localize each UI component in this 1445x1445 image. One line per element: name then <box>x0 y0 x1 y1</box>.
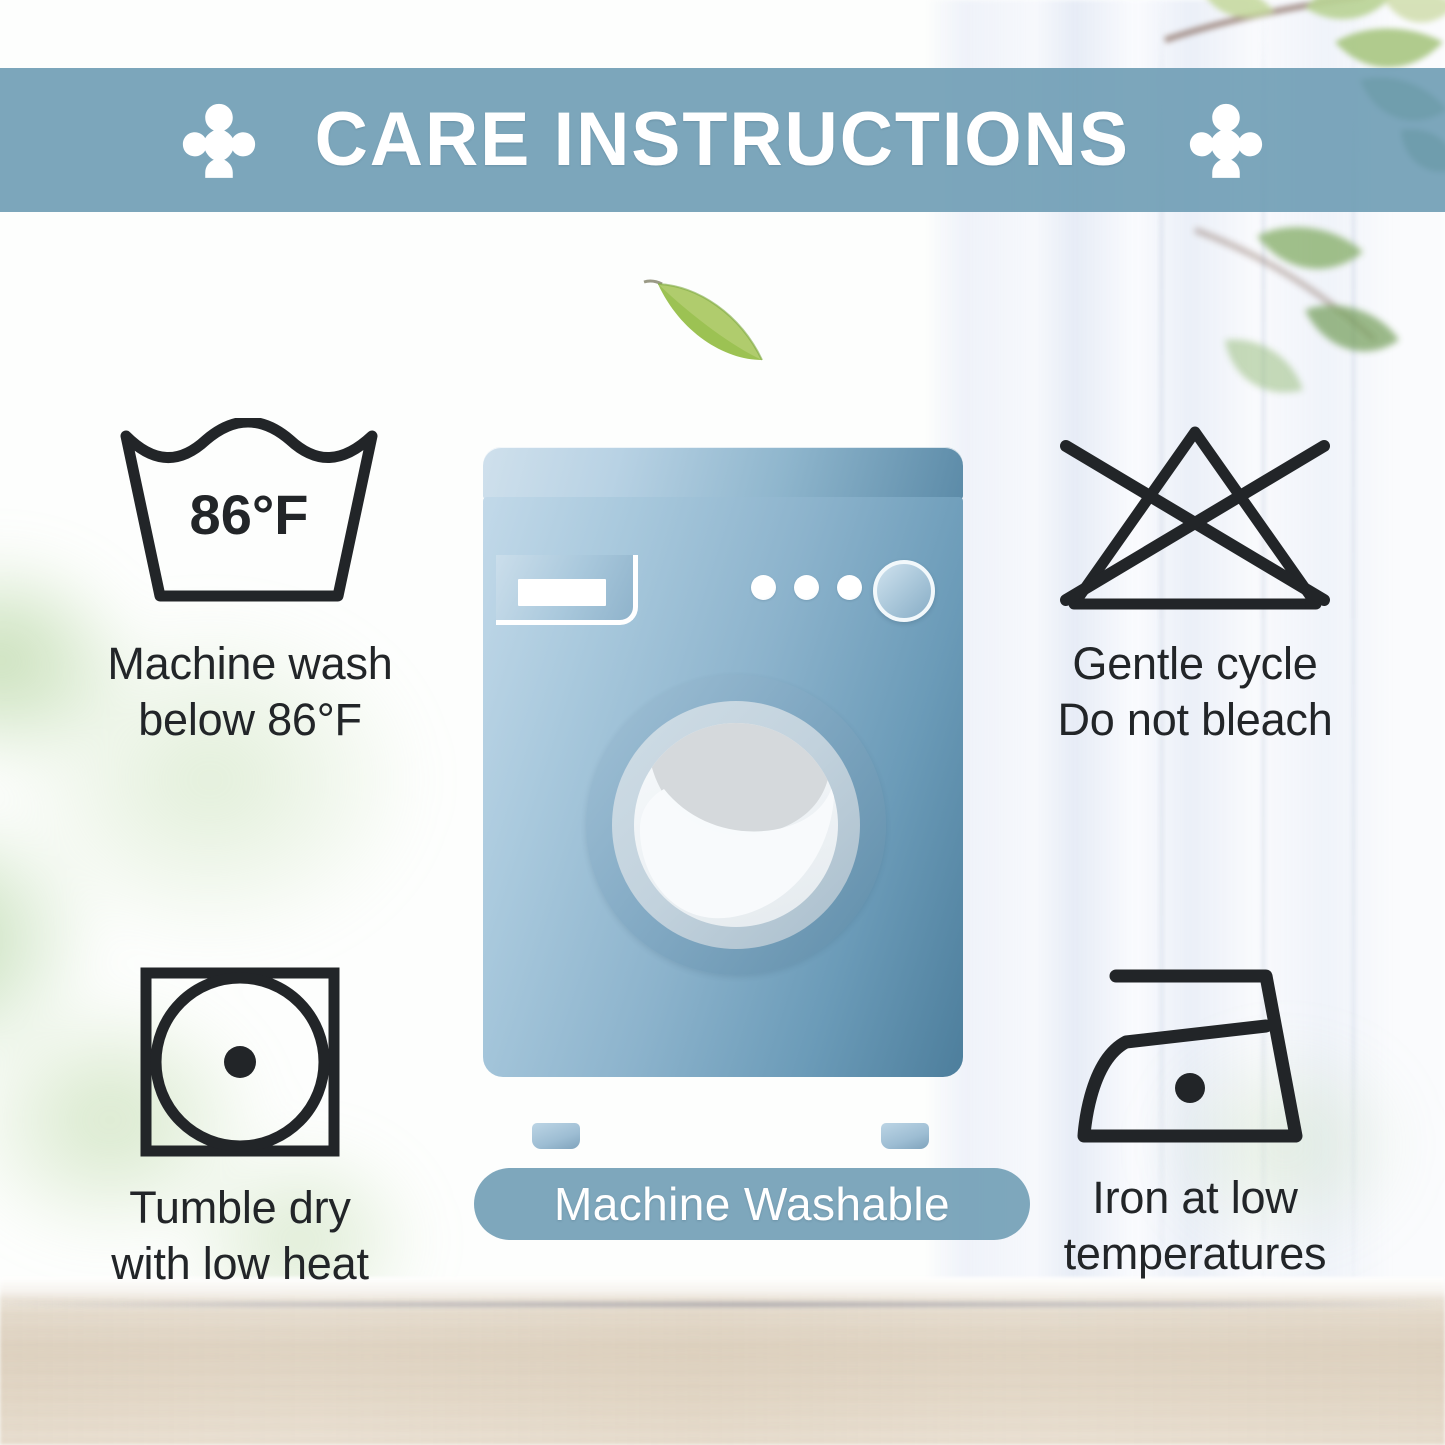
page-title: CARE INSTRUCTIONS <box>315 102 1130 178</box>
machine-drawer-slot <box>518 579 606 606</box>
background-branch-leaves-right <box>1165 190 1405 450</box>
machine-lid <box>483 447 963 499</box>
machine-door-glass <box>634 723 838 927</box>
care-symbol-iron-low: Iron at low temperatures <box>985 962 1405 1282</box>
machine-door-outer-ring <box>586 675 886 975</box>
machine-indicator-lights <box>751 575 862 600</box>
care-symbol-machine-wash: 86°F Machine wash below 86°F <box>40 418 460 748</box>
background-wood-grain <box>0 1295 1445 1445</box>
machine-foot <box>532 1123 580 1149</box>
fleur-de-lis-icon <box>1183 97 1269 183</box>
tumble-dry-low-icon <box>135 962 345 1162</box>
machine-door-inner-ring <box>612 701 860 949</box>
fleur-de-lis-icon <box>176 97 262 183</box>
indicator-light <box>837 575 862 600</box>
care-symbol-do-not-bleach: Gentle cycle Do not bleach <box>985 418 1405 748</box>
machine-door-glass-highlight <box>634 723 838 927</box>
floating-leaf-icon <box>636 268 776 378</box>
washing-machine-illustration <box>478 447 968 1127</box>
indicator-light <box>751 575 776 600</box>
machine-body <box>483 497 963 1077</box>
care-instructions-infographic: CARE INSTRUCTIONS 86°F Machine wash belo… <box>0 0 1445 1445</box>
care-label-tumble-dry: Tumble dry with low heat <box>111 1180 369 1292</box>
machine-washable-badge: Machine Washable <box>474 1168 1030 1240</box>
machine-washable-badge-label: Machine Washable <box>554 1177 950 1231</box>
wash-temperature-value: 86°F <box>190 483 309 546</box>
indicator-light <box>794 575 819 600</box>
iron-one-dot-icon <box>1070 962 1320 1152</box>
machine-detergent-drawer <box>496 555 638 625</box>
machine-control-knob <box>873 560 935 622</box>
machine-foot <box>881 1123 929 1149</box>
wash-tub-icon: 86°F <box>110 418 390 618</box>
care-symbol-tumble-dry: Tumble dry with low heat <box>30 962 450 1292</box>
background-wood-edge <box>0 1302 1445 1307</box>
triangle-crossed-out-icon <box>1050 418 1340 618</box>
care-label-do-not-bleach: Gentle cycle Do not bleach <box>1057 636 1332 748</box>
care-label-machine-wash: Machine wash below 86°F <box>107 636 392 748</box>
header-banner: CARE INSTRUCTIONS <box>0 68 1445 212</box>
care-label-iron-low: Iron at low temperatures <box>1064 1170 1327 1282</box>
